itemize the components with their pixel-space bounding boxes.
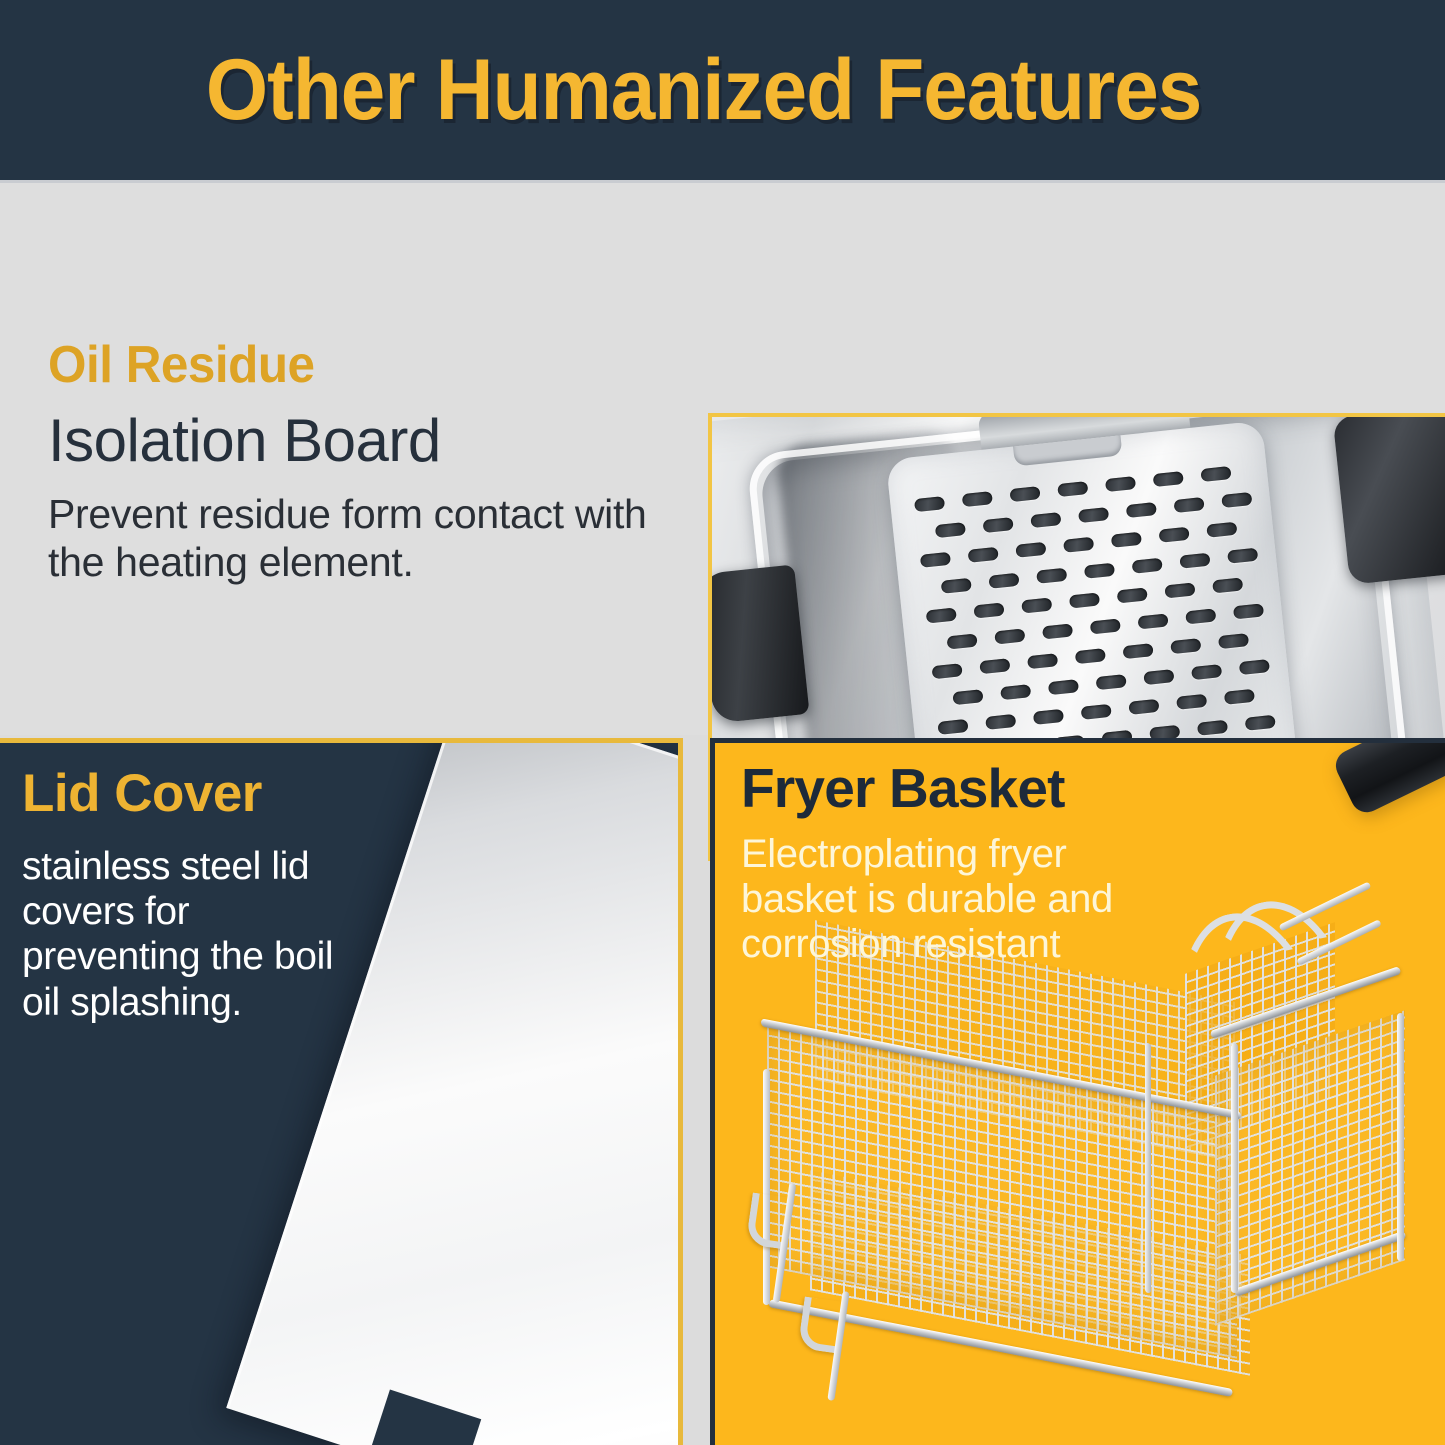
board-hole [1048,679,1079,695]
board-hole [1078,507,1109,523]
board-hole [1084,563,1115,579]
board-hole [1185,608,1216,624]
board-hole [1075,648,1106,664]
board-hole [1015,542,1046,558]
fryer-basket-text-block: Fryer Basket Electroplating fryer basket… [741,761,1161,968]
board-hole [1245,715,1276,731]
board-hole [1000,684,1031,700]
board-hole [1063,537,1094,553]
basket-corner-wire-middle [1231,1043,1238,1293]
oil-residue-kicker: Oil Residue [48,338,656,393]
board-hole [1173,497,1204,513]
fryer-basket-kicker: Fryer Basket [741,761,1161,816]
board-hole [962,491,993,507]
board-hole [1137,613,1168,629]
basket-corner-wire-right [1397,1013,1404,1261]
lid-cover-panel: Lid Cover stainless steel lid covers for… [0,738,683,1445]
board-hole [1179,553,1210,569]
fryer-basket-panel: Fryer Basket Electroplating fryer basket… [710,738,1445,1445]
board-hole [1069,592,1100,608]
oil-residue-title: Isolation Board [48,409,688,472]
board-hole [1224,689,1255,705]
board-hole [1057,481,1088,497]
board-hole [985,714,1016,730]
tank-handle-right [1333,413,1445,585]
board-hole [1033,709,1064,725]
board-hole [1164,582,1195,598]
board-hole [1170,638,1201,654]
board-hole [1122,643,1153,659]
board-hole [968,547,999,563]
board-hole [1111,532,1142,548]
board-hole [1221,492,1252,508]
oil-residue-section: Oil Residue Isolation Board Prevent resi… [0,183,1445,735]
board-hole [1117,587,1148,603]
lid-cover-kicker: Lid Cover [22,767,352,820]
board-hole [937,719,968,735]
header-banner: Other Humanized Features [0,0,1445,183]
oil-residue-text-block: Oil Residue Isolation Board Prevent resi… [48,338,688,586]
board-hole [932,663,963,679]
board-hole [1126,502,1157,518]
board-hole [1153,471,1184,487]
board-hole [1090,618,1121,634]
board-hole [1081,704,1112,720]
board-hole [1233,603,1264,619]
board-hole [1021,597,1052,613]
board-hole [1030,512,1061,528]
basket-corner-wire-left [763,1069,770,1305]
basket-black-handle [1331,738,1445,818]
board-hole [947,633,978,649]
lid-cover-text-block: Lid Cover stainless steel lid covers for… [22,767,352,1025]
basket-divider-wire [1145,1042,1151,1293]
board-hole [1212,577,1243,593]
board-hole [1042,623,1073,639]
board-hole [1027,653,1058,669]
board-hole [1159,527,1190,543]
board-hole [994,628,1025,644]
oil-residue-description: Prevent residue form contact with the he… [48,490,688,587]
board-hole [1036,568,1067,584]
board-hole [1128,699,1159,715]
board-hole [935,522,966,538]
board-hole [1227,548,1258,564]
board-hole [1191,664,1222,680]
board-hole [1200,466,1231,482]
board-hole [914,496,945,512]
board-hole [1143,669,1174,685]
page-title: Other Humanized Features [206,41,1239,140]
fryer-basket-description: Electroplating fryer basket is durable a… [741,832,1161,968]
infographic-stage: Other Humanized Features Oil Residue Iso… [0,0,1445,1445]
board-hole [1206,522,1237,538]
board-hole [941,578,972,594]
board-hole [979,658,1010,674]
board-hole [1132,558,1163,574]
tank-handle-left [708,564,810,723]
board-hole [1009,486,1040,502]
board-hole [952,689,983,705]
board-hole [926,607,957,623]
lid-cover-description: stainless steel lid covers for preventin… [22,844,352,1025]
board-hole [1218,633,1249,649]
board-hole [1176,694,1207,710]
board-hole [988,573,1019,589]
board-hole [920,552,951,568]
board-hole [1105,476,1136,492]
board-hole [1239,659,1270,675]
board-hole [983,517,1014,533]
board-hole [973,602,1004,618]
board-hole [1197,720,1228,736]
board-hole [1096,674,1127,690]
